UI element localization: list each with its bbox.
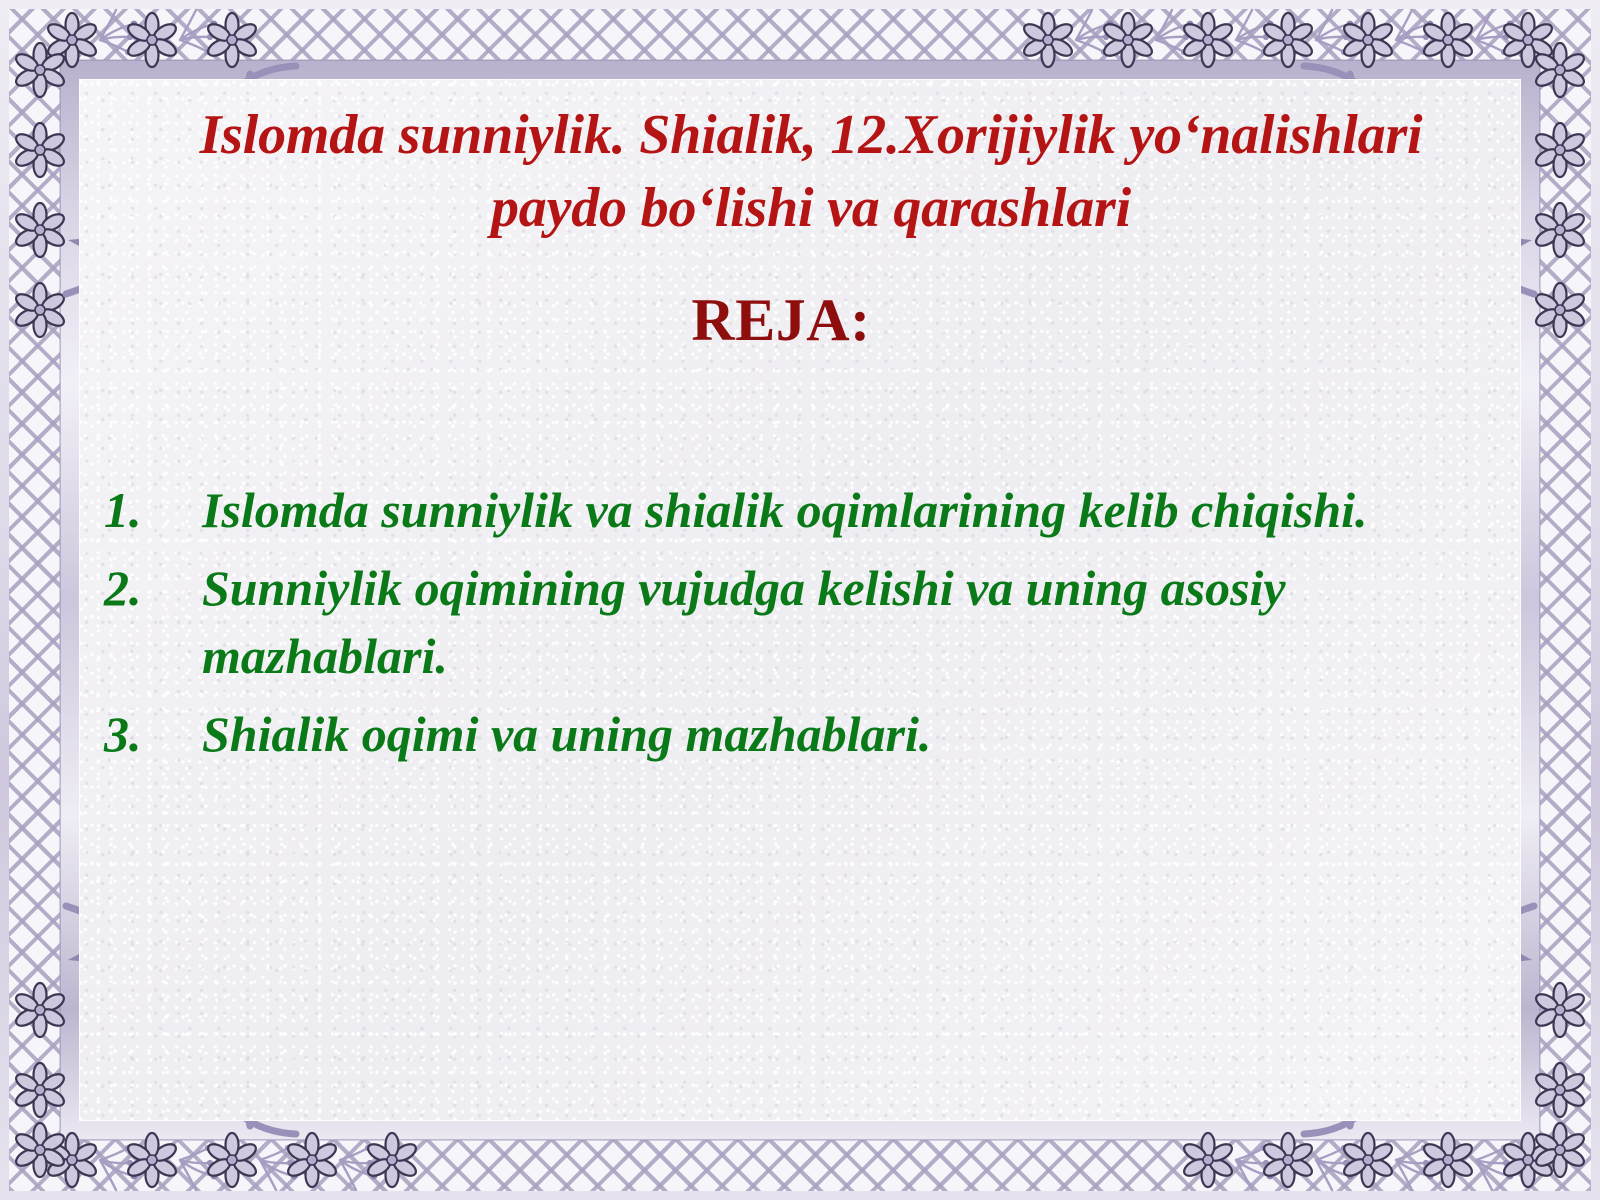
list-item: 1. Islomda sunniylik va shialik oqimlari… — [94, 476, 1464, 544]
list-item: 3. Shialik oqimi va uning mazhablari. — [94, 700, 1464, 768]
list-item-text: Sunniylik oqimining vujudga kelishi va u… — [202, 554, 1464, 690]
presentation-slide: Islomda sunniylik. Shialik, 12.Xorijiyli… — [0, 0, 1600, 1200]
floral-garland-top-icon — [0, 0, 1600, 86]
list-item-number: 1. — [94, 476, 202, 544]
slide-content: Islomda sunniylik. Shialik, 12.Xorijiyli… — [86, 86, 1514, 1114]
plan-heading: REJA: — [86, 286, 1476, 355]
floral-garland-bottom-icon — [0, 1114, 1600, 1200]
list-item-text: Islomda sunniylik va shialik oqimlarinin… — [202, 476, 1464, 544]
slide-title: Islomda sunniylik. Shialik, 12.Xorijiyli… — [196, 99, 1426, 245]
floral-garland-left-icon — [0, 0, 86, 1200]
list-item-number: 3. — [94, 700, 202, 768]
list-item: 2. Sunniylik oqimining vujudga kelishi v… — [94, 554, 1464, 690]
floral-garland-right-icon — [1514, 0, 1600, 1200]
plan-list: 1. Islomda sunniylik va shialik oqimlari… — [94, 476, 1464, 778]
list-item-number: 2. — [94, 554, 202, 622]
list-item-text: Shialik oqimi va uning mazhablari. — [202, 700, 1464, 768]
